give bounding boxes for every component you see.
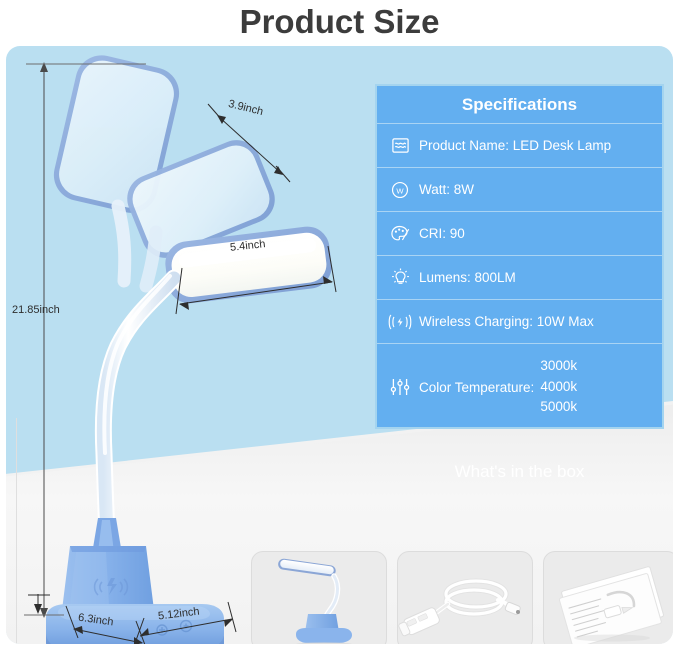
lightbulb-icon <box>387 266 413 290</box>
box-item-adapter: Adapter <box>397 551 533 644</box>
user-manual-image <box>543 551 673 644</box>
product-size-panel: 21.85inch 3.9inch 5.4inch 6.3inch 5.12in… <box>6 46 673 644</box>
color-temp-value-2: 4000k <box>540 377 577 398</box>
spec-row-cri: CRI: 90 <box>377 212 662 256</box>
palette-icon <box>387 222 413 246</box>
spec-label-cri: CRI: 90 <box>419 226 465 241</box>
desk-lamp-image <box>251 551 387 644</box>
spec-row-color-temperature: Color Temperature: 3000k 4000k 5000k <box>377 344 662 430</box>
spec-row-product-name: Product Name: LED Desk Lamp <box>377 124 662 168</box>
color-temp-value-1: 3000k <box>540 356 577 377</box>
color-temperature-values: 3000k 4000k 5000k <box>540 356 577 419</box>
spec-label-watt: Watt: 8W <box>419 182 474 197</box>
specifications-header: Specifications <box>377 86 662 124</box>
page-title: Product Size <box>0 0 679 46</box>
box-item-desk-lamp: Desk Lamp <box>251 551 387 644</box>
color-temp-value-3: 5000k <box>540 397 577 418</box>
spec-label-wireless-charging: Wireless Charging: 10W Max <box>419 314 594 329</box>
waves-frame-icon <box>387 134 413 158</box>
box-contents-title: What's in the box <box>375 462 664 482</box>
wireless-charging-icon <box>387 310 413 334</box>
box-item-user-manual: User Manual <box>543 551 673 644</box>
spec-row-watt: W Watt: 8W <box>377 168 662 212</box>
spec-label-lumens: Lumens: 800LM <box>419 270 516 285</box>
spec-row-lumens: Lumens: 800LM <box>377 256 662 300</box>
adapter-image <box>397 551 533 644</box>
spec-label-product-name: Product Name: LED Desk Lamp <box>419 138 611 153</box>
specifications-table: Specifications Product Name: LED Desk La… <box>375 84 664 429</box>
spec-row-wireless-charging: Wireless Charging: 10W Max <box>377 300 662 344</box>
dimension-label-height: 21.85inch <box>12 304 60 316</box>
svg-text:W: W <box>396 186 404 195</box>
box-contents-list: Desk Lamp <box>251 551 673 644</box>
spec-label-color-temperature: Color Temperature: <box>419 380 534 395</box>
watt-circle-icon: W <box>387 178 413 202</box>
sliders-icon <box>387 375 413 399</box>
